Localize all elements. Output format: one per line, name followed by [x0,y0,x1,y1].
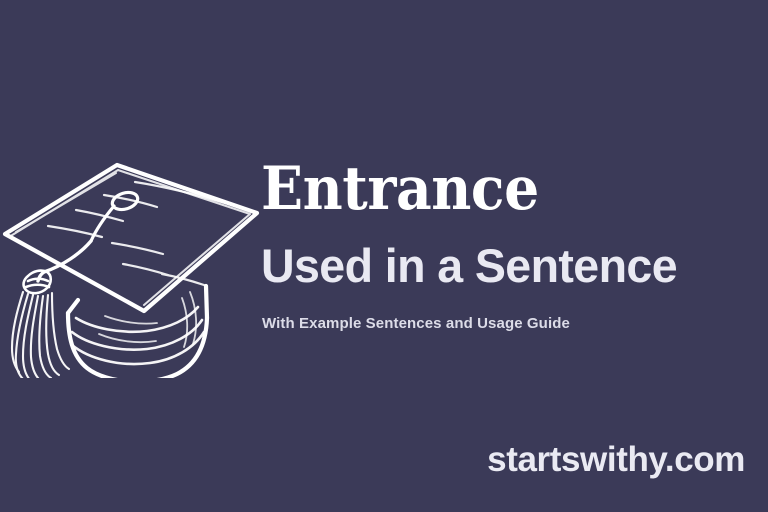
headword-title: Entrance [261,158,721,220]
subtitle-text: With Example Sentences and Usage Guide [262,314,761,334]
phrase-title: Used in a Sentence [261,240,756,292]
graduation-cap-icon [0,148,272,378]
site-brand: startswithy.com [487,440,745,480]
headline-block: Entrance Used in a Sentence With Example… [261,158,761,334]
poster-canvas: Entrance Used in a Sentence With Example… [0,0,768,512]
